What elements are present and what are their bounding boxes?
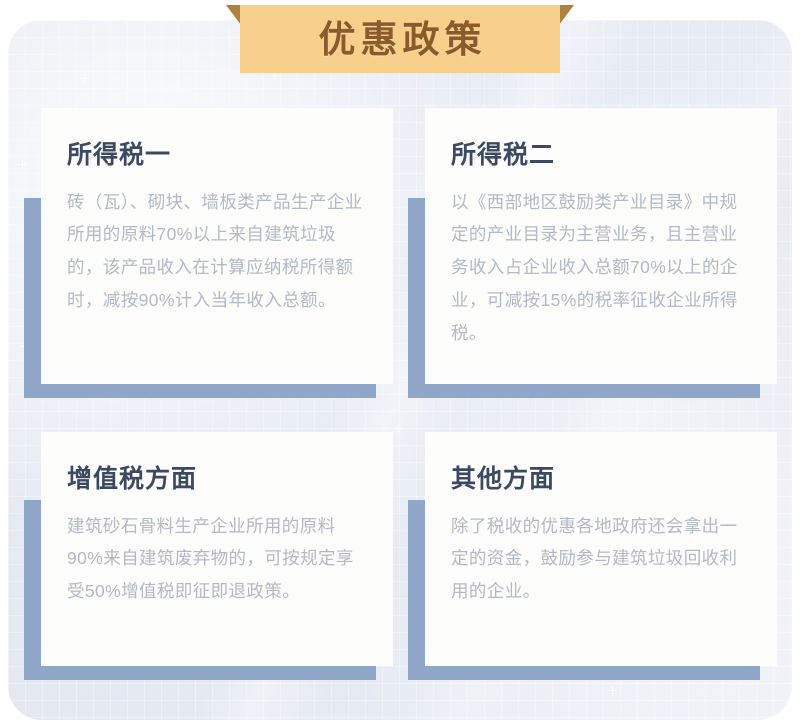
card-title: 其他方面 bbox=[451, 466, 751, 494]
card-body: 所得税一 砖（瓦）、砌块、墙板类产品生产企业所用的原料70%以上来自建筑垃圾的，… bbox=[41, 108, 393, 384]
card-text: 砖（瓦）、砌块、墙板类产品生产企业所用的原料70%以上来自建筑垃圾的，该产品收入… bbox=[67, 186, 367, 318]
infographic-root: 优惠政策 所得税一 砖（瓦）、砌块、墙板类产品生产企业所用的原料70%以上来自建… bbox=[0, 0, 800, 727]
banner-body: 优惠政策 bbox=[240, 5, 560, 73]
card-body: 所得税二 以《西部地区鼓励类产业目录》中规定的产业目录为主营业务，且主营业务收入… bbox=[425, 108, 777, 384]
card-body: 增值税方面 建筑砂石骨料生产企业所用的原料90%来自建筑废弃物的，可按规定享受5… bbox=[41, 432, 393, 666]
card-body: 其他方面 除了税收的优惠各地政府还会拿出一定的资金，鼓励参与建筑垃圾回收利用的企… bbox=[425, 432, 777, 666]
card-text: 以《西部地区鼓励类产业目录》中规定的产业目录为主营业务，且主营业务收入占企业收入… bbox=[451, 186, 751, 350]
card-title: 所得税一 bbox=[67, 142, 367, 170]
policy-card-other: 其他方面 除了税收的优惠各地政府还会拿出一定的资金，鼓励参与建筑垃圾回收利用的企… bbox=[408, 432, 776, 680]
policy-card-income-tax-1: 所得税一 砖（瓦）、砌块、墙板类产品生产企业所用的原料70%以上来自建筑垃圾的，… bbox=[24, 108, 392, 398]
policy-card-vat: 增值税方面 建筑砂石骨料生产企业所用的原料90%来自建筑废弃物的，可按规定享受5… bbox=[24, 432, 392, 680]
card-text: 建筑砂石骨料生产企业所用的原料90%来自建筑废弃物的，可按规定享受50%增值税即… bbox=[67, 510, 367, 609]
banner: 优惠政策 bbox=[240, 5, 560, 73]
card-title: 增值税方面 bbox=[67, 466, 367, 494]
card-text: 除了税收的优惠各地政府还会拿出一定的资金，鼓励参与建筑垃圾回收利用的企业。 bbox=[451, 510, 751, 609]
page-title: 优惠政策 bbox=[314, 21, 487, 58]
policy-card-income-tax-2: 所得税二 以《西部地区鼓励类产业目录》中规定的产业目录为主营业务，且主营业务收入… bbox=[408, 108, 776, 398]
card-title: 所得税二 bbox=[451, 142, 751, 170]
